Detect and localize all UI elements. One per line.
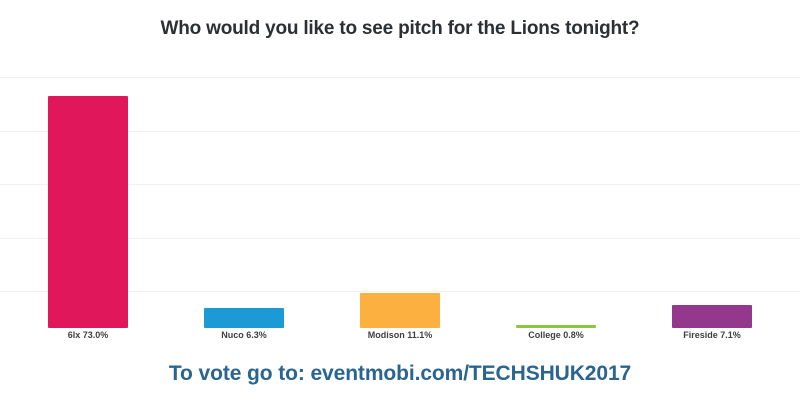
bar-group[interactable]: [672, 60, 752, 328]
bar-group[interactable]: [48, 60, 128, 328]
chart-plot-area: [0, 60, 800, 328]
bar-6lx[interactable]: [48, 96, 128, 328]
bar-group[interactable]: [360, 60, 440, 328]
category-label-nuco: Nuco 6.3%: [184, 330, 304, 340]
bar-nuco[interactable]: [204, 308, 284, 328]
category-label-college: College 0.8%: [496, 330, 616, 340]
poll-chart-card: Who would you like to see pitch for the …: [0, 0, 800, 407]
bar-group[interactable]: [204, 60, 284, 328]
chart-bars-layer: [0, 60, 800, 328]
bar-group[interactable]: [516, 60, 596, 328]
bar-college[interactable]: [516, 325, 596, 328]
vote-instruction-footer: To vote go to: eventmobi.com/TECHSHUK201…: [0, 362, 800, 386]
chart-category-labels: 6lx 73.0%Nuco 6.3%Modison 11.1%College 0…: [0, 330, 800, 346]
category-label-fireside: Fireside 7.1%: [652, 330, 772, 340]
bar-modison[interactable]: [360, 293, 440, 328]
chart-title: Who would you like to see pitch for the …: [0, 18, 800, 40]
category-label-6lx: 6lx 73.0%: [28, 330, 148, 340]
category-label-modison: Modison 11.1%: [340, 330, 460, 340]
bar-fireside[interactable]: [672, 305, 752, 328]
